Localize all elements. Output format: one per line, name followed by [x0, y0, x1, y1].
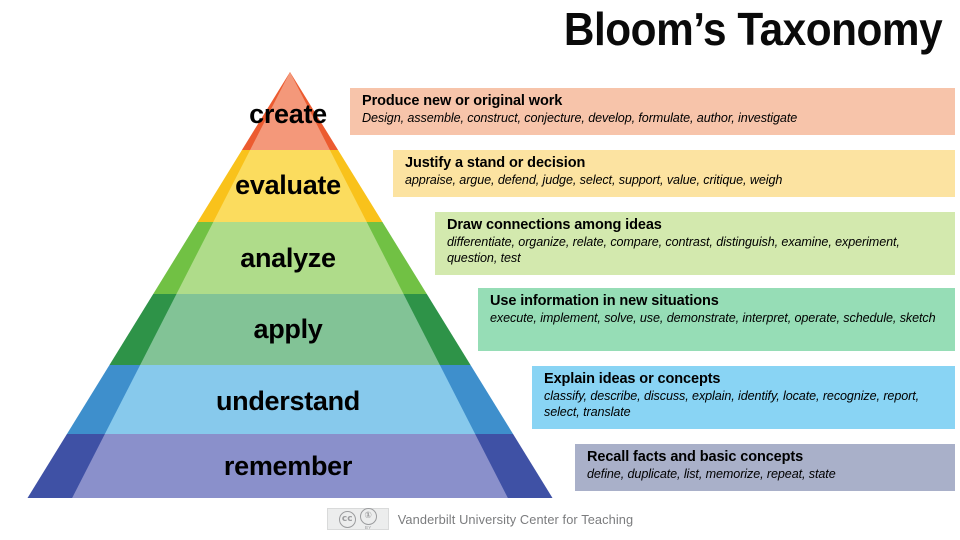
creative-commons-icon: cc — [339, 511, 356, 528]
callout-understand[interactable]: Explain ideas or conceptsclassify, descr… — [532, 366, 955, 429]
callout-verbs: appraise, argue, defend, judge, select, … — [405, 173, 955, 189]
page-title: Bloom’s Taxonomy — [564, 2, 942, 56]
callout-heading: Explain ideas or concepts — [544, 371, 955, 389]
callout-heading: Justify a stand or decision — [405, 155, 955, 173]
tier-label-remember: remember — [0, 451, 576, 482]
attribution-by-icon: ① BY — [360, 508, 377, 531]
blooms-taxonomy-diagram: Bloom’s Taxonomy createevaluateanalyzeap… — [0, 0, 960, 540]
cc-by-badge[interactable]: cc ① BY — [327, 508, 389, 530]
callout-analyze[interactable]: Draw connections among ideasdifferentiat… — [435, 212, 955, 275]
callout-heading: Produce new or original work — [362, 93, 955, 111]
callout-heading: Draw connections among ideas — [447, 217, 955, 235]
callout-verbs: classify, describe, discuss, explain, id… — [544, 389, 955, 421]
attribution-text: Vanderbilt University Center for Teachin… — [398, 512, 634, 527]
tier-label-understand: understand — [0, 386, 576, 417]
callout-heading: Recall facts and basic concepts — [587, 449, 955, 467]
callout-heading: Use information in new situations — [490, 293, 955, 311]
callout-create[interactable]: Produce new or original workDesign, asse… — [350, 88, 955, 135]
callout-verbs: differentiate, organize, relate, compare… — [447, 235, 955, 267]
callout-verbs: Design, assemble, construct, conjecture,… — [362, 111, 955, 127]
callout-remember[interactable]: Recall facts and basic conceptsdefine, d… — [575, 444, 955, 491]
footer: cc ① BY Vanderbilt University Center for… — [0, 508, 960, 530]
callout-verbs: define, duplicate, list, memorize, repea… — [587, 467, 955, 483]
callout-verbs: execute, implement, solve, use, demonstr… — [490, 311, 955, 327]
callout-apply[interactable]: Use information in new situationsexecute… — [478, 288, 955, 351]
callout-evaluate[interactable]: Justify a stand or decisionappraise, arg… — [393, 150, 955, 197]
